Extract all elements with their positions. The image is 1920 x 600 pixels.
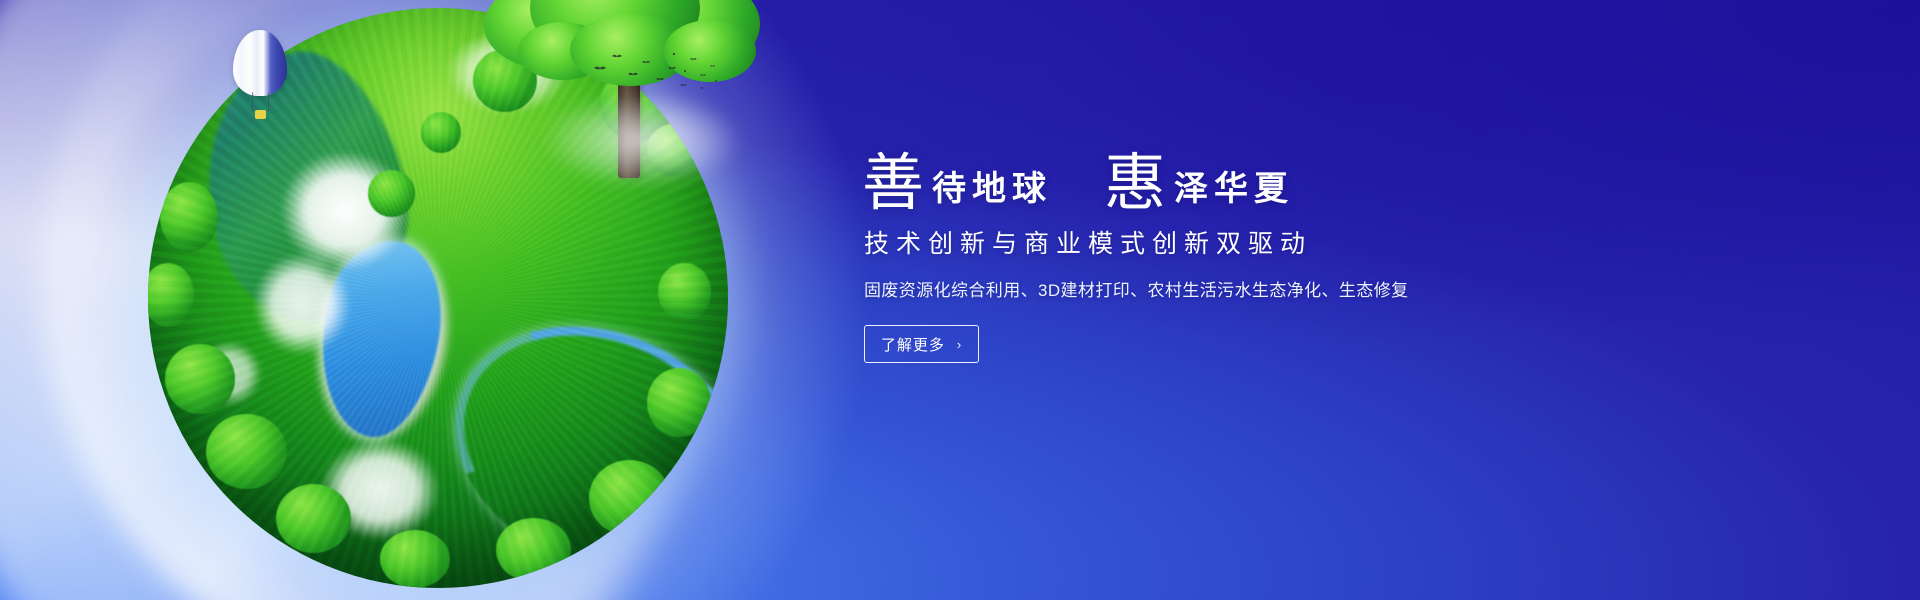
lake-shore [285,211,481,472]
cloud-puff [432,20,583,124]
river-icon [415,281,728,588]
hero-tree [478,0,778,188]
tree-canopy [380,530,450,588]
mist-overlay [518,80,768,200]
tree-canopy [421,112,462,153]
learn-more-button[interactable]: 了解更多 › [864,325,979,363]
lake-icon [306,231,454,445]
tree-canopy [473,49,537,113]
subtitle: 技术创新与商业模式创新双驱动 [864,224,1562,260]
cloud-puff [241,240,363,368]
tree-canopy [206,414,287,489]
tree-foliage [484,0,604,68]
tree-canopy [165,344,235,414]
headline-segment-two: 惠 泽华夏 [1104,152,1294,214]
atmosphere-halo [0,0,960,600]
tree-canopy [276,484,351,554]
cloud-puff [305,426,456,554]
hero-banner: 善 待地球 惠 泽华夏 技术创新与商业模式创新双驱动 固废资源化综合利用、3D建… [0,0,1920,600]
tree-canopy [658,263,710,321]
headline-small-text-1: 待地球 [924,172,1052,206]
headline-large-char-1: 善 [862,152,924,214]
tree-canopy [160,182,218,252]
tree-canopy [589,460,670,535]
tree-canopy [542,25,594,77]
description-text: 固废资源化综合利用、3D建材打印、农村生活污水生态净化、生态修复 [864,276,1562,301]
cloud-puff [189,333,270,414]
headline-segment-one: 善 待地球 [862,152,1052,214]
tree-canopy [496,518,571,582]
cloud-band-inner [0,60,680,600]
balloon-basket [255,110,266,119]
bird-flock-icon [590,48,720,94]
cloud-band-outer [0,0,890,600]
balloon-envelope [233,30,287,96]
tree-canopy [647,124,699,176]
page-title: 善 待地球 惠 泽华夏 [862,128,1562,214]
headline-small-text-2: 泽华夏 [1166,172,1294,206]
mountain-ridge [173,32,436,343]
tree-canopy [647,368,711,438]
headline-large-char-2: 惠 [1104,152,1166,214]
cloud-puff [264,136,426,287]
hot-air-balloon-icon [233,30,287,122]
copy-block: 善 待地球 惠 泽华夏 技术创新与商业模式创新双驱动 固废资源化综合利用、3D建… [862,128,1562,363]
chevron-right-icon: › [957,337,962,352]
tree-canopy [148,263,194,327]
river-secondary [362,388,664,588]
learn-more-label: 了解更多 [881,334,945,355]
tree-canopy [368,170,414,216]
